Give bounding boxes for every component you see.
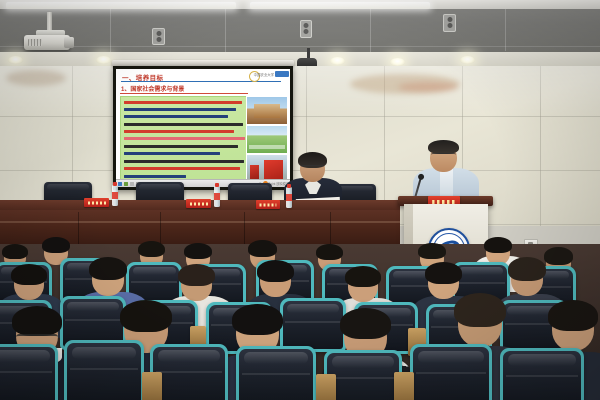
desk-panel-seam [160, 212, 161, 244]
desk-panel-seam [330, 212, 331, 244]
projector-mount-rod [47, 12, 52, 32]
downlight-icon [96, 56, 111, 64]
seat-armrest [316, 374, 336, 400]
conference-hall-photo: 一、培养目标 中国农业大学 1、国家社会需求与背景 [0, 0, 600, 400]
audience-seat[interactable] [280, 298, 346, 352]
presentation-slide: 一、培养目标 中国农业大学 1、国家社会需求与背景 [116, 69, 290, 187]
downlight-icon [330, 57, 345, 65]
audience-seat[interactable] [236, 346, 316, 400]
desk-nameplate [186, 199, 211, 208]
slide-body-line [124, 175, 186, 178]
slide-logo-text: 中国农业大学 [254, 72, 274, 77]
speaker-grille-icon [443, 14, 456, 32]
wall-stain [398, 82, 458, 92]
slide-body-block [120, 96, 250, 184]
slide-body-line [124, 115, 228, 118]
glasses-icon [16, 334, 58, 341]
ceiling-panel-seam [110, 9, 111, 55]
projection-screen: 一、培养目标 中国农业大学 1、国家社会需求与背景 [113, 66, 293, 190]
slide-body-line [124, 130, 234, 133]
downlight-icon [390, 58, 405, 66]
panelist-glasses-icon [301, 165, 324, 170]
seat-armrest [142, 372, 162, 400]
downlight-icon [8, 56, 23, 64]
ceiling-panel-edge [0, 46, 600, 47]
desk-nameplate [256, 200, 280, 209]
audience-seat[interactable] [64, 340, 144, 400]
ceiling-panel-seam [225, 9, 226, 55]
ceiling-strip-light-right [250, 2, 430, 9]
projector-vent [28, 39, 42, 46]
speaker-grille-icon [300, 20, 312, 38]
desk-nameplate [84, 198, 109, 207]
wall-sheen [0, 66, 600, 118]
downlight-icon [460, 56, 475, 64]
slide-body-line [124, 145, 238, 148]
audience-seat[interactable] [0, 344, 58, 400]
ceiling-panel-seam [505, 9, 506, 51]
projector-lens-icon [64, 37, 74, 48]
slide-body-line [124, 123, 243, 126]
desk-panel-seam [78, 212, 79, 244]
audience-seat[interactable] [410, 344, 492, 400]
slide-body-line [124, 137, 245, 140]
panel-desk-bevel [0, 221, 400, 223]
slide-body-line [124, 160, 244, 163]
seat-armrest [394, 372, 414, 400]
slide-body-line [124, 101, 242, 104]
water-bottle [214, 186, 220, 207]
speaker-grille-icon [152, 28, 165, 45]
audience-seat[interactable] [500, 348, 584, 400]
wall-stain [6, 70, 66, 86]
water-bottle [112, 185, 118, 206]
ceiling-strip-light-left [6, 2, 236, 9]
speaker-shirt-placket [440, 168, 453, 198]
slide-subtitle-rule [120, 93, 248, 94]
slide-subtitle: 1、国家社会需求与背景 [121, 84, 184, 93]
slide-body-line [124, 108, 236, 111]
slide-body-line [124, 152, 220, 155]
slide-corner-tag [275, 71, 289, 77]
slide-photo-field [246, 125, 288, 154]
speaker-hair [428, 140, 459, 154]
speaker-glasses-icon [431, 153, 456, 158]
slide-photo-building [246, 96, 288, 125]
desk-panel-seam [244, 212, 245, 244]
water-bottle [286, 187, 292, 208]
slide-body-line [124, 167, 240, 170]
